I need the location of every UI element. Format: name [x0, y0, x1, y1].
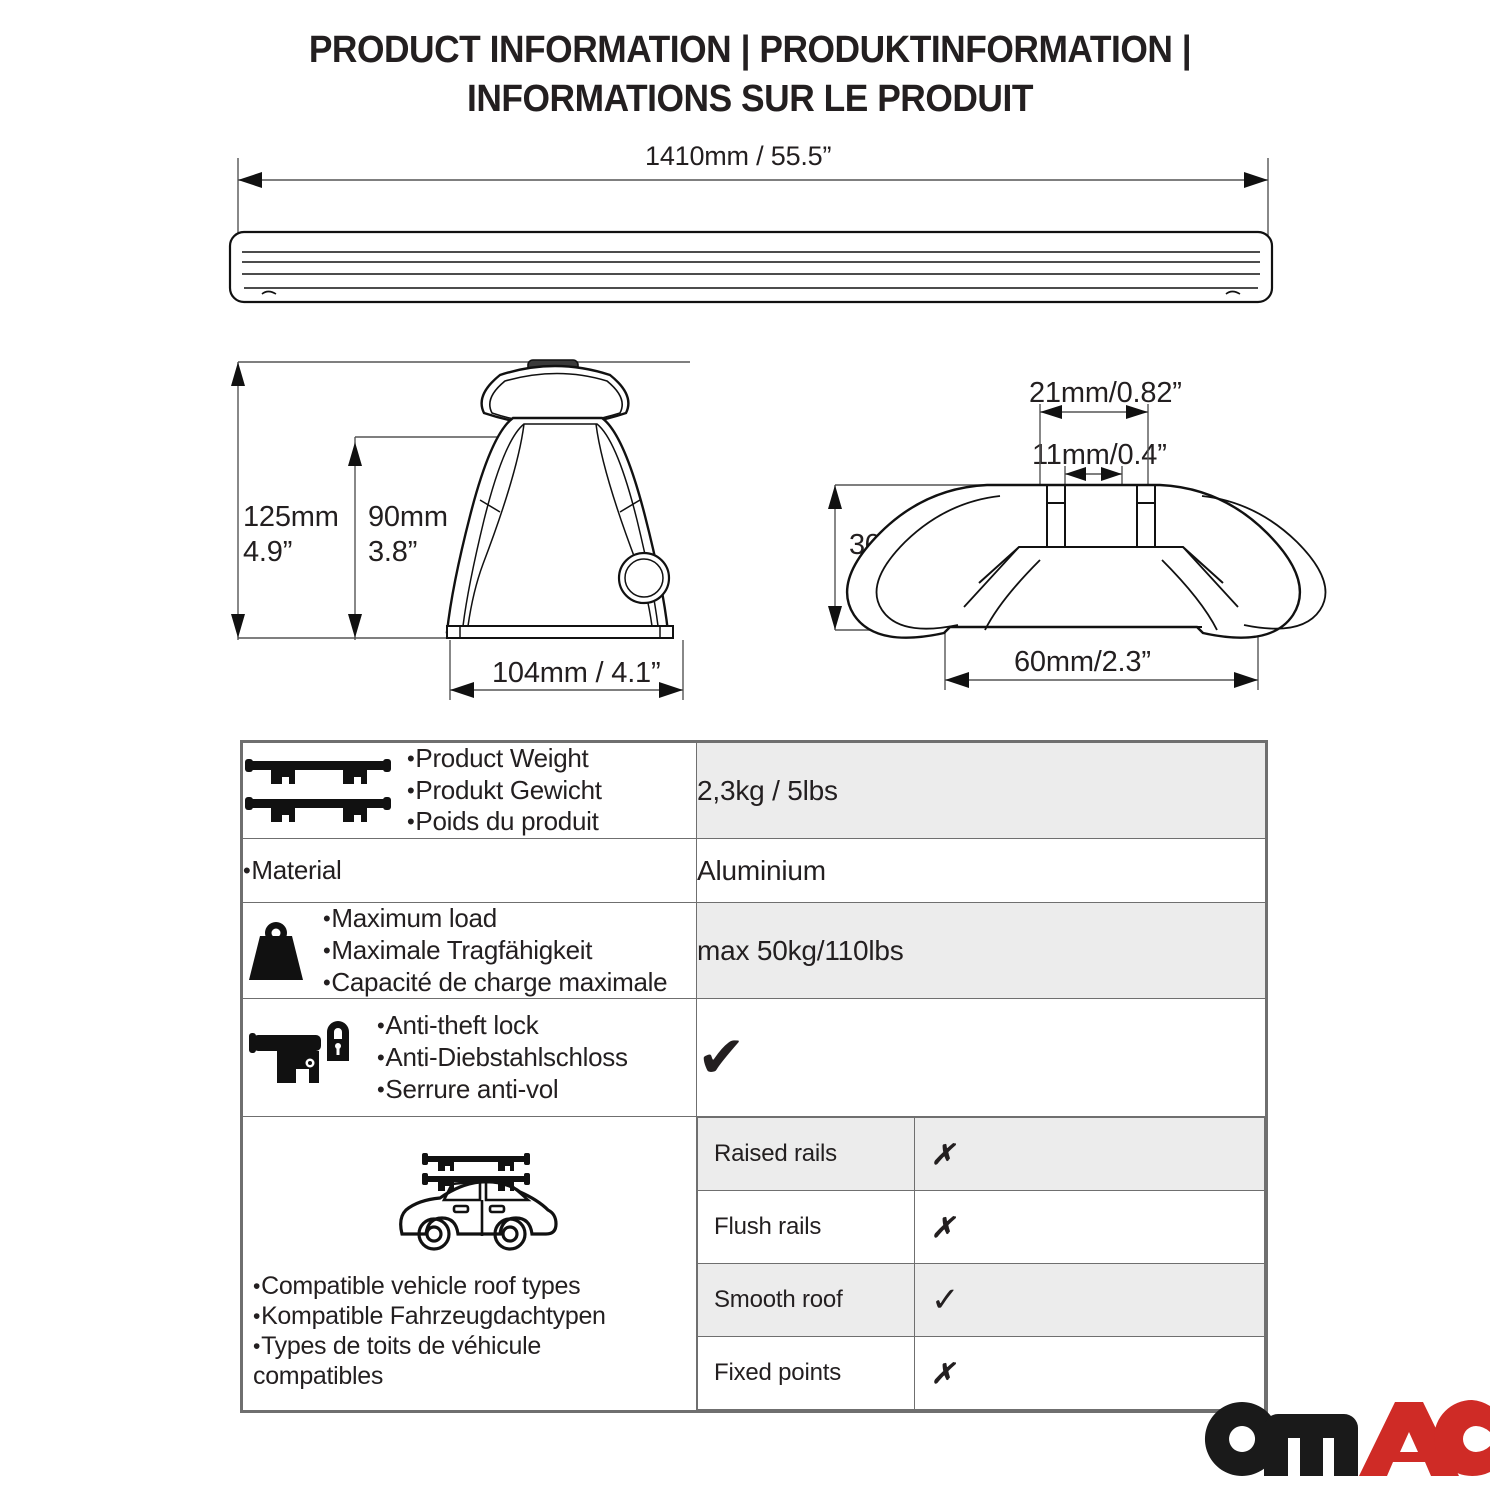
- roof-type-mark-check-icon: ✓: [915, 1264, 1265, 1337]
- profile-slot-outer-label: 21mm/0.82”: [1029, 376, 1182, 411]
- foot-width-label: 104mm / 4.1”: [492, 656, 660, 691]
- foot-total-height-label: 125mm 4.9”: [243, 500, 339, 570]
- value-cell-anti-theft-lock: ✔: [697, 999, 1266, 1117]
- profile-slot-inner-label: 11mm/0.4”: [1032, 438, 1167, 473]
- label-cell-anti-theft-lock: Anti-theft lock Anti-Diebstahlschloss Se…: [243, 999, 697, 1117]
- label-fr: Capacité de charge maximale: [323, 967, 667, 999]
- label-de: Anti-Diebstahlschloss: [377, 1042, 628, 1074]
- label-fr: Types de toits de véhicule: [253, 1331, 606, 1361]
- roof-type-mark-cross-icon: ✗: [915, 1191, 1265, 1264]
- label-cell-material: Material: [243, 839, 697, 903]
- bar-length-label: 1410mm / 55.5”: [645, 140, 831, 172]
- label-list-material: Material: [243, 855, 696, 887]
- label-en: Maximum load: [323, 903, 667, 935]
- roof-type-row-flush-rails: Flush rails ✗: [698, 1191, 1265, 1264]
- roof-type-name: Fixed points: [698, 1337, 915, 1410]
- roof-types-matrix-cell: Raised rails ✗ Flush rails ✗: [697, 1117, 1266, 1411]
- roof-type-row-raised-rails: Raised rails ✗: [698, 1118, 1265, 1191]
- roof-type-row-fixed-points: Fixed points ✗: [698, 1337, 1265, 1410]
- omac-logo: [1190, 1400, 1490, 1480]
- label-cell-roof-types: Compatible vehicle roof types Kompatible…: [243, 1117, 697, 1411]
- table-row-material: Material Aluminium: [243, 839, 1266, 903]
- label-fr: Poids du produit: [407, 806, 602, 838]
- label-en: Material: [243, 855, 696, 887]
- roof-bar-side-view: [230, 232, 1272, 302]
- label-list-roof-types: Compatible vehicle roof types Kompatible…: [253, 1271, 606, 1391]
- roof-type-mark-cross-icon: ✗: [915, 1337, 1265, 1410]
- value-cell-product-weight: 2,3kg / 5lbs: [697, 743, 1266, 839]
- foot-inner-height-label: 90mm 3.8”: [368, 500, 448, 570]
- page-title-line2: INFORMATIONS SUR LE PRODUIT: [53, 75, 1448, 124]
- value-cell-material: Aluminium: [697, 839, 1266, 903]
- label-en: Compatible vehicle roof types: [253, 1271, 606, 1301]
- roof-type-mark-cross-icon: ✗: [915, 1118, 1265, 1191]
- weight-icon: [243, 920, 309, 982]
- table-row-product-weight: Product Weight Produkt Gewicht Poids du …: [243, 743, 1266, 839]
- label-de: Maximale Tragfähigkeit: [323, 935, 667, 967]
- roof-type-name: Raised rails: [698, 1118, 915, 1191]
- page-title: PRODUCT INFORMATION | PRODUKTINFORMATION…: [53, 26, 1448, 123]
- specification-table: Product Weight Produkt Gewicht Poids du …: [240, 740, 1268, 1413]
- label-fr: Serrure anti-vol: [377, 1074, 628, 1106]
- profile-width-label: 60mm/2.3”: [1014, 645, 1151, 680]
- page-title-line1: PRODUCT INFORMATION | PRODUKTINFORMATION…: [53, 26, 1448, 75]
- table-row-maximum-load: Maximum load Maximale Tragfähigkeit Capa…: [243, 903, 1266, 999]
- value-cell-maximum-load: max 50kg/110lbs: [697, 903, 1266, 999]
- product-information-sheet: PRODUCT INFORMATION | PRODUKTINFORMATION…: [0, 0, 1500, 1500]
- roof-bars-icon: [243, 755, 393, 827]
- lock-icon: [243, 1019, 363, 1097]
- label-de: Produkt Gewicht: [407, 775, 602, 807]
- roof-type-name: Flush rails: [698, 1191, 915, 1264]
- label-cell-maximum-load: Maximum load Maximale Tragfähigkeit Capa…: [243, 903, 697, 999]
- label-list-anti-theft-lock: Anti-theft lock Anti-Diebstahlschloss Se…: [377, 1010, 628, 1105]
- car-with-roofbars-icon: [386, 1144, 558, 1261]
- label-en: Anti-theft lock: [377, 1010, 628, 1042]
- table-row-roof-types: Compatible vehicle roof types Kompatible…: [243, 1117, 1266, 1411]
- roof-type-name: Smooth roof: [698, 1264, 915, 1337]
- label-fr-continuation: compatibles: [253, 1361, 606, 1391]
- label-cell-product-weight: Product Weight Produkt Gewicht Poids du …: [243, 743, 697, 839]
- profile-height-label: 30mm 1.2”: [849, 528, 929, 598]
- logo-letter-m: [1264, 1414, 1358, 1476]
- roof-types-matrix: Raised rails ✗ Flush rails ✗: [697, 1117, 1265, 1410]
- label-list-product-weight: Product Weight Produkt Gewicht Poids du …: [407, 743, 602, 838]
- foot-front-view: [447, 360, 673, 638]
- checkmark-icon: ✔: [697, 1025, 745, 1090]
- label-list-maximum-load: Maximum load Maximale Tragfähigkeit Capa…: [323, 903, 667, 998]
- roof-type-row-smooth-roof: Smooth roof ✓: [698, 1264, 1265, 1337]
- label-de: Kompatible Fahrzeugdachtypen: [253, 1301, 606, 1331]
- label-en: Product Weight: [407, 743, 602, 775]
- omac-logo-mark: [1190, 1400, 1490, 1480]
- table-row-anti-theft-lock: Anti-theft lock Anti-Diebstahlschloss Se…: [243, 999, 1266, 1117]
